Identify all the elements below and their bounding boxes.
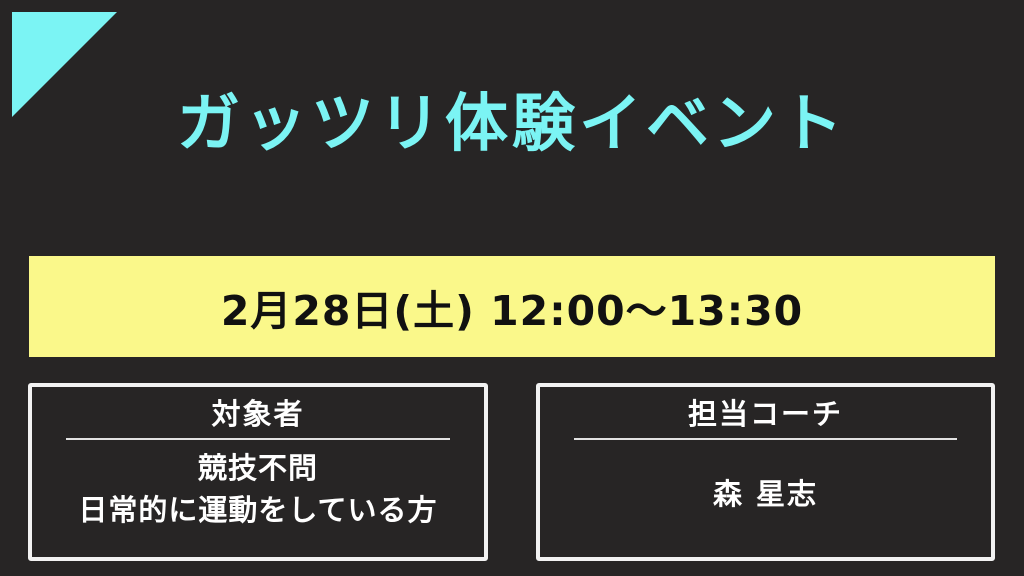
info-box-heading: 担当コーチ [688,396,843,432]
info-box-coach: 担当コーチ 森 星志 [536,383,995,561]
info-box-heading: 対象者 [211,396,304,432]
info-box-divider [574,438,957,440]
info-box-line: 森 星志 [713,473,818,515]
info-box-body: 競技不問 日常的に運動をしている方 [78,447,437,531]
page-title: ガッツリ体験イベント [0,92,1024,155]
info-box-body: 森 星志 [713,473,818,515]
info-box-line: 競技不問 [78,447,437,489]
date-time-text: 2月28日(土) 12:00〜13:30 [221,277,803,337]
info-box-line: 日常的に運動をしている方 [78,489,437,531]
info-box-divider [66,438,450,440]
event-flyer-slide: ガッツリ体験イベント 2月28日(土) 12:00〜13:30 対象者 競技不問… [0,0,1024,576]
date-time-banner: 2月28日(土) 12:00〜13:30 [29,256,995,357]
info-box-target-audience: 対象者 競技不問 日常的に運動をしている方 [28,383,488,561]
